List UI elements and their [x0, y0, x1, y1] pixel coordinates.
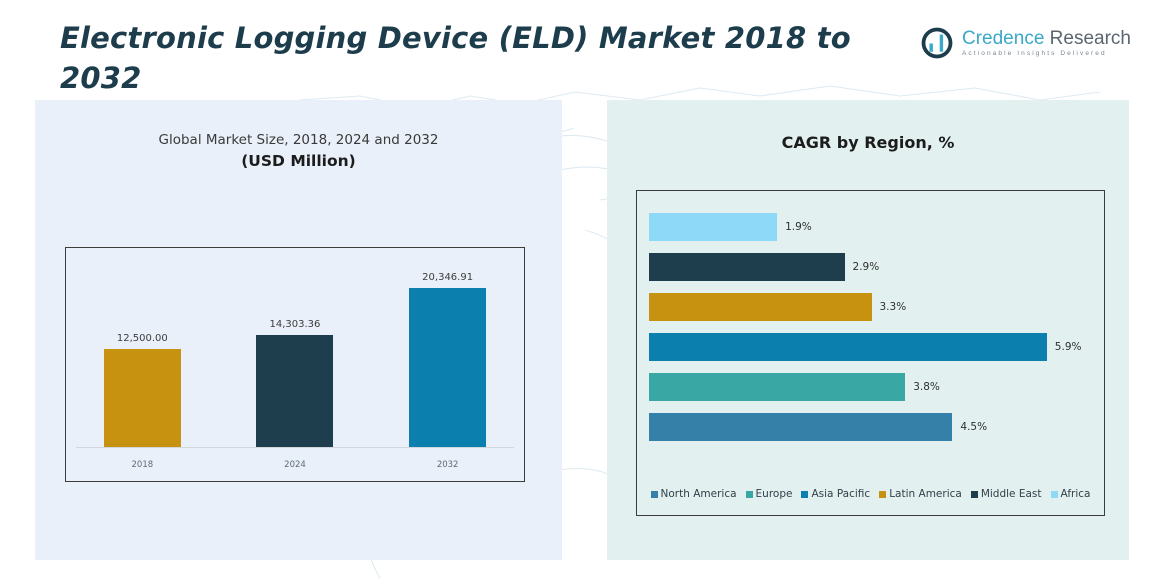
brand-name: Credence Research — [962, 29, 1131, 48]
legend-item: North America — [651, 488, 737, 500]
column-item: 14,303.36 — [219, 267, 372, 447]
left-panel: Global Market Size, 2018, 2024 and 2032 … — [35, 100, 562, 560]
bar-row: 5.9% — [649, 333, 1094, 361]
infographic-page: Electronic Logging Device (ELD) Market 2… — [0, 0, 1156, 588]
x-axis-tick-label: 2032 — [371, 460, 524, 470]
bar-value-label: 3.8% — [913, 381, 940, 393]
bar-row: 4.5% — [649, 413, 1094, 441]
column-value-label: 12,500.00 — [117, 333, 168, 344]
bar-value-label: 3.3% — [880, 301, 907, 313]
bar-value-label: 1.9% — [785, 221, 812, 233]
legend-swatch — [879, 491, 886, 498]
column-bar — [409, 288, 486, 447]
brand-logo: Credence Research Actionable Insights De… — [920, 26, 1131, 60]
column-item: 20,346.91 — [371, 267, 524, 447]
horizontal-bar — [649, 413, 952, 441]
legend-swatch — [971, 491, 978, 498]
column-chart-plot: 12,500.0014,303.3620,346.91 201820242032 — [65, 247, 525, 482]
horizontal-bar — [649, 373, 905, 401]
horizontal-bar — [649, 333, 1047, 361]
legend-item: Latin America — [879, 488, 962, 500]
column-chart-bars: 12,500.0014,303.3620,346.91 — [66, 267, 524, 447]
header: Electronic Logging Device (ELD) Market 2… — [0, 0, 1156, 100]
legend-label: Latin America — [889, 488, 962, 500]
bar-row: 3.8% — [649, 373, 1094, 401]
legend-item: Africa — [1051, 488, 1091, 500]
brand-text: Credence Research Actionable Insights De… — [962, 29, 1131, 58]
legend-label: North America — [661, 488, 737, 500]
right-chart-title: CAGR by Region, % — [607, 133, 1129, 152]
legend-swatch — [1051, 491, 1058, 498]
legend-swatch — [746, 491, 753, 498]
bar-value-label: 4.5% — [960, 421, 987, 433]
x-axis-labels: 201820242032 — [66, 460, 524, 470]
horizontal-bar — [649, 213, 777, 241]
x-axis-line — [76, 447, 514, 448]
horizontal-bar — [649, 253, 845, 281]
chart-legend: North AmericaEuropeAsia PacificLatin Ame… — [637, 488, 1104, 500]
legend-item: Asia Pacific — [801, 488, 870, 500]
bar-chart-plot: 1.9%2.9%3.3%5.9%3.8%4.5% North AmericaEu… — [636, 190, 1105, 516]
page-title: Electronic Logging Device (ELD) Market 2… — [60, 18, 920, 98]
column-item: 12,500.00 — [66, 267, 219, 447]
legend-swatch — [801, 491, 808, 498]
horizontal-bar — [649, 293, 872, 321]
column-value-label: 20,346.91 — [422, 272, 473, 283]
bar-row: 3.3% — [649, 293, 1094, 321]
left-chart-subtitle: Global Market Size, 2018, 2024 and 2032 — [35, 132, 562, 148]
column-value-label: 14,303.36 — [270, 319, 321, 330]
brand-tagline: Actionable Insights Delivered — [962, 51, 1131, 58]
bar-value-label: 5.9% — [1055, 341, 1082, 353]
legend-item: Europe — [746, 488, 793, 500]
bar-value-label: 2.9% — [853, 261, 880, 273]
legend-label: Asia Pacific — [811, 488, 870, 500]
column-bar — [104, 349, 181, 447]
brand-name-primary: Credence — [962, 28, 1044, 49]
legend-swatch — [651, 491, 658, 498]
bar-chart-circle-icon — [920, 26, 954, 60]
brand-name-secondary: Research — [1044, 28, 1131, 49]
bar-chart-bars: 1.9%2.9%3.3%5.9%3.8%4.5% — [649, 213, 1094, 441]
bar-row: 1.9% — [649, 213, 1094, 241]
x-axis-tick-label: 2024 — [219, 460, 372, 470]
x-axis-tick-label: 2018 — [66, 460, 219, 470]
bar-row: 2.9% — [649, 253, 1094, 281]
column-bar — [256, 335, 333, 447]
left-chart-units: (USD Million) — [35, 152, 562, 170]
legend-label: Africa — [1061, 488, 1091, 500]
legend-label: Europe — [756, 488, 793, 500]
legend-item: Middle East — [971, 488, 1042, 500]
legend-label: Middle East — [981, 488, 1042, 500]
right-panel: CAGR by Region, % 1.9%2.9%3.3%5.9%3.8%4.… — [607, 100, 1129, 560]
